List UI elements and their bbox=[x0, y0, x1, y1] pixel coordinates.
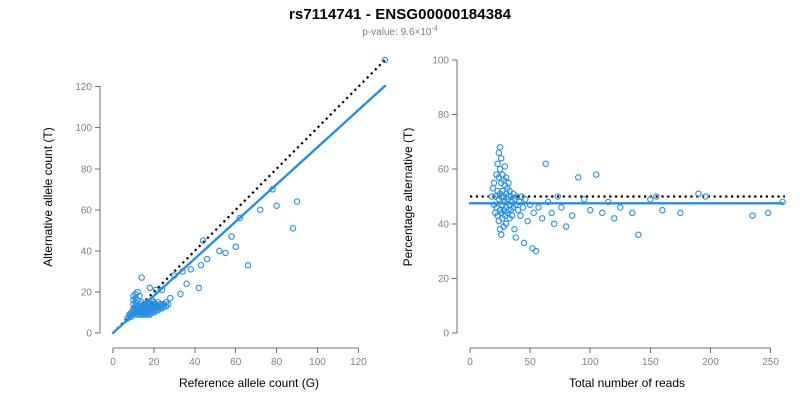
scatter-point bbox=[594, 172, 599, 177]
scatter-point bbox=[502, 164, 507, 169]
scatter-point bbox=[217, 248, 222, 253]
scatter-point bbox=[521, 240, 526, 245]
x-axis-tick-label: 40 bbox=[189, 357, 201, 368]
y-axis-tick-label: 40 bbox=[81, 246, 93, 257]
scatter-point bbox=[520, 205, 525, 210]
scatter-point bbox=[630, 210, 635, 215]
y-axis-tick-label: 100 bbox=[75, 123, 92, 134]
regression-line bbox=[113, 86, 385, 333]
left-scatter-panel: 020406080100120Alternative allele count … bbox=[41, 57, 388, 390]
scatter-point bbox=[559, 205, 564, 210]
scatter-point bbox=[178, 291, 183, 296]
y-axis-tick-label: 40 bbox=[438, 219, 450, 230]
scatter-point bbox=[245, 263, 250, 268]
scatter-point bbox=[497, 145, 502, 150]
right-scatter-panel: 020406080100Percentage alternative (T)05… bbox=[401, 56, 785, 391]
scatter-point bbox=[543, 161, 548, 166]
scatter-point bbox=[491, 180, 496, 185]
scatter-point bbox=[290, 226, 295, 231]
x-axis-title: Reference allele count (G) bbox=[179, 376, 319, 390]
scatter-point bbox=[518, 213, 523, 218]
scatter-point bbox=[147, 285, 152, 290]
scatter-point bbox=[188, 267, 193, 272]
scatter-point bbox=[525, 218, 530, 223]
scatter-point bbox=[258, 207, 263, 212]
scatter-point bbox=[233, 244, 238, 249]
scatter-point bbox=[196, 285, 201, 290]
scatter-point bbox=[636, 232, 641, 237]
scatter-point bbox=[198, 263, 203, 268]
y-axis-title: Percentage alternative (T) bbox=[401, 128, 415, 267]
x-axis-tick-label: 80 bbox=[271, 357, 283, 368]
scatter-point bbox=[496, 150, 501, 155]
x-axis-tick-label: 200 bbox=[702, 357, 719, 368]
scatter-point bbox=[696, 191, 701, 196]
scatter-point bbox=[168, 295, 173, 300]
scatter-point bbox=[563, 224, 568, 229]
scatter-point bbox=[750, 213, 755, 218]
x-axis-tick-label: 60 bbox=[230, 357, 242, 368]
scatter-point bbox=[536, 205, 541, 210]
scatter-point bbox=[539, 216, 544, 221]
scatter-point bbox=[588, 207, 593, 212]
scatter-point bbox=[294, 199, 299, 204]
x-axis-tick-label: 250 bbox=[762, 357, 779, 368]
x-axis-tick-label: 100 bbox=[582, 357, 599, 368]
x-axis-tick-label: 150 bbox=[642, 357, 659, 368]
scatter-point bbox=[139, 275, 144, 280]
y-axis-tick-label: 20 bbox=[438, 274, 450, 285]
scatter-point bbox=[499, 232, 504, 237]
scatter-point bbox=[582, 197, 587, 202]
x-axis-tick-label: 100 bbox=[309, 357, 326, 368]
x-axis-title: Total number of reads bbox=[569, 376, 685, 390]
scatter-point bbox=[204, 256, 209, 261]
scatter-point bbox=[618, 205, 623, 210]
figure-container: rs7114741 - ENSG00000184384 p-value: 9.6… bbox=[0, 0, 800, 400]
y-axis-tick-label: 120 bbox=[75, 82, 92, 93]
scatter-point bbox=[223, 250, 228, 255]
y-axis-tick-label: 20 bbox=[81, 287, 93, 298]
x-axis-tick-label: 0 bbox=[110, 357, 116, 368]
y-axis-tick-label: 100 bbox=[432, 56, 449, 67]
scatter-point bbox=[612, 216, 617, 221]
scatter-point bbox=[531, 210, 536, 215]
y-axis-tick-label: 0 bbox=[443, 329, 449, 340]
scatter-point bbox=[569, 213, 574, 218]
y-axis-tick-label: 60 bbox=[81, 205, 93, 216]
scatter-point bbox=[184, 281, 189, 286]
scatter-point bbox=[600, 210, 605, 215]
x-axis-tick-label: 20 bbox=[148, 357, 160, 368]
scatter-point bbox=[549, 210, 554, 215]
scatter-point bbox=[513, 235, 518, 240]
scatter-point bbox=[153, 287, 158, 292]
scatter-point bbox=[576, 175, 581, 180]
scatter-point bbox=[229, 234, 234, 239]
x-axis-tick-label: 120 bbox=[350, 357, 367, 368]
x-axis-tick-label: 50 bbox=[525, 357, 537, 368]
y-axis-tick-label: 0 bbox=[86, 329, 92, 340]
scatter-point bbox=[551, 221, 556, 226]
y-axis-tick-label: 80 bbox=[438, 110, 450, 121]
scatter-point bbox=[765, 210, 770, 215]
scatter-point bbox=[495, 161, 500, 166]
scatter-point bbox=[678, 210, 683, 215]
scatter-point bbox=[512, 227, 517, 232]
scatter-point bbox=[274, 203, 279, 208]
scatter-point bbox=[660, 207, 665, 212]
y-axis-tick-label: 60 bbox=[438, 165, 450, 176]
y-axis-title: Alternative allele count (T) bbox=[41, 127, 55, 266]
y-axis-tick-label: 80 bbox=[81, 164, 93, 175]
plot-svg: 020406080100120Alternative allele count … bbox=[0, 0, 800, 400]
scatter-point bbox=[499, 156, 504, 161]
x-axis-tick-label: 0 bbox=[467, 357, 473, 368]
scatter-point bbox=[382, 57, 387, 62]
